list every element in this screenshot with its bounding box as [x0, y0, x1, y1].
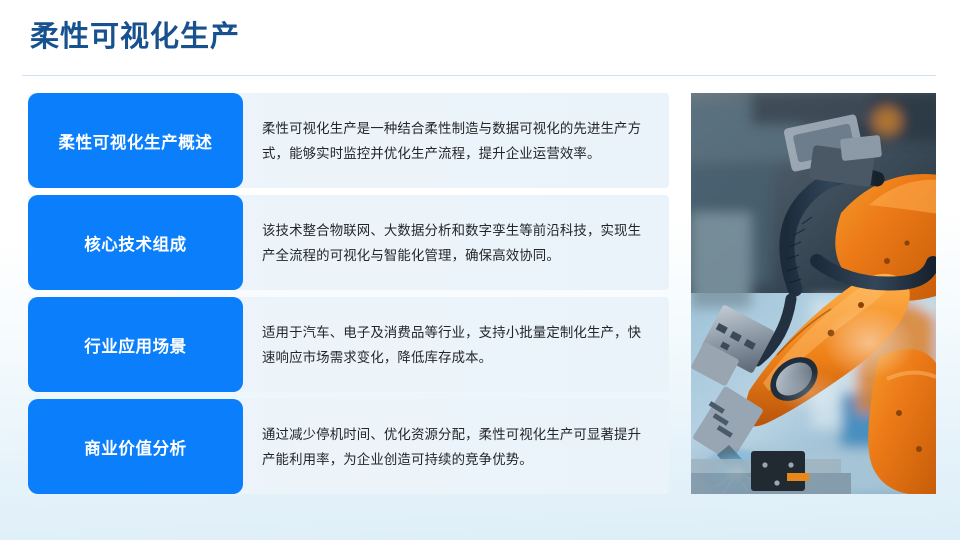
content-card[interactable]: 柔性可视化生产概述 柔性可视化生产是一种结合柔性制造与数据可视化的先进生产方式，… — [28, 93, 669, 188]
slide-root: 柔性可视化生产 柔性可视化生产概述 柔性可视化生产是一种结合柔性制造与数据可视化… — [0, 0, 960, 540]
page-title: 柔性可视化生产 — [30, 18, 240, 56]
content-card[interactable]: 核心技术组成 该技术整合物联网、大数据分析和数字孪生等前沿科技，实现生产全流程的… — [28, 195, 669, 290]
card-description: 通过减少停机时间、优化资源分配，柔性可视化生产可显著提升产能利用率，为企业创造可… — [243, 399, 669, 494]
card-description: 适用于汽车、电子及消费品等行业，支持小批量定制化生产，快速响应市场需求变化，降低… — [243, 297, 669, 392]
content-card[interactable]: 商业价值分析 通过减少停机时间、优化资源分配，柔性可视化生产可显著提升产能利用率… — [28, 399, 669, 494]
content-card-list: 柔性可视化生产概述 柔性可视化生产是一种结合柔性制造与数据可视化的先进生产方式，… — [28, 93, 669, 501]
card-label-applications: 行业应用场景 — [28, 297, 243, 392]
title-divider — [22, 75, 936, 76]
content-card[interactable]: 行业应用场景 适用于汽车、电子及消费品等行业，支持小批量定制化生产，快速响应市场… — [28, 297, 669, 392]
robot-arm-illustration — [691, 93, 936, 494]
card-label-business-value: 商业价值分析 — [28, 399, 243, 494]
card-description: 该技术整合物联网、大数据分析和数字孪生等前沿科技，实现生产全流程的可视化与智能化… — [243, 195, 669, 290]
card-label-core-tech: 核心技术组成 — [28, 195, 243, 290]
industrial-robot-arm-photo — [691, 93, 936, 494]
card-description: 柔性可视化生产是一种结合柔性制造与数据可视化的先进生产方式，能够实时监控并优化生… — [243, 93, 669, 188]
card-label-overview: 柔性可视化生产概述 — [28, 93, 243, 188]
